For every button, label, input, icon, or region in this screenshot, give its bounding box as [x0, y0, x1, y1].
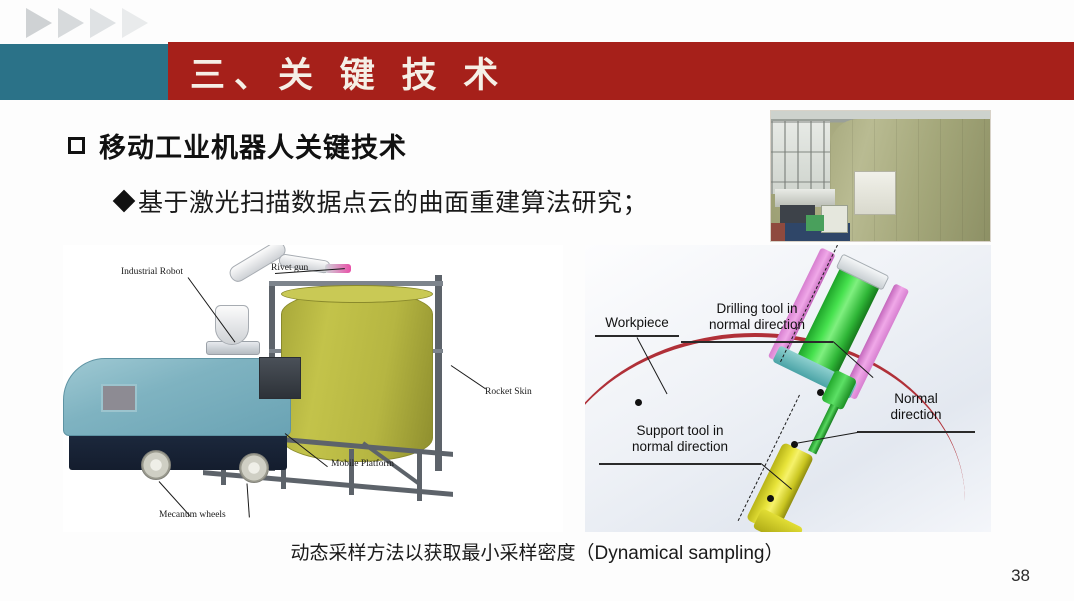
label-normal-direction: Normal direction	[857, 391, 975, 423]
rocket-tank-photo	[770, 110, 991, 242]
rocket-skin-top-ellipse	[281, 285, 433, 303]
truss-post-3	[349, 449, 354, 495]
label-rocket-skin: Rocket Skin	[485, 387, 532, 397]
label-support-tool: Support tool in normal direction	[599, 423, 761, 455]
mobile-platform-window	[101, 384, 137, 412]
label-mobile-platform: Mobile Platform	[331, 459, 394, 469]
bullet-level2-label: 基于激光扫描数据点云的曲面重建算法研究；	[138, 183, 648, 219]
photo-white-panel	[854, 171, 896, 215]
play-triangle-icon	[122, 8, 148, 38]
mecanum-wheel	[141, 450, 171, 480]
bullet-item-level1: 移动工业机器人关键技术	[68, 126, 407, 165]
play-triangle-icon	[26, 8, 52, 38]
photo-monitor	[821, 205, 847, 234]
hollow-square-bullet-icon	[68, 137, 85, 154]
play-triangle-icon	[58, 8, 84, 38]
leader-line-mecanum-2	[247, 483, 250, 517]
bullet-item-level2: 基于激光扫描数据点云的曲面重建算法研究；	[116, 183, 648, 219]
mecanum-wheel	[239, 453, 269, 483]
node-dot-workpiece	[635, 399, 642, 406]
fixture-upright-right	[435, 275, 442, 471]
leader-line-rocket-skin	[451, 365, 486, 389]
robot-controller-box	[259, 357, 301, 399]
page-title: 三、关 键 技 术	[190, 48, 690, 96]
decorative-arrow-strip	[26, 8, 148, 38]
label-underline-normal-direction	[857, 431, 975, 433]
node-dot-support-tool	[767, 495, 774, 502]
right-cad-diagram: Workpiece Drilling tool in normal direct…	[585, 245, 991, 532]
label-underline-support-tool	[599, 463, 761, 465]
node-dot-drilling-tool	[817, 389, 824, 396]
slide-caption: 动态采样方法以获取最小采样密度（Dynamical sampling）	[0, 538, 1074, 565]
label-rivet-gun: Rivet gun	[271, 263, 308, 273]
truss-post-4	[417, 453, 422, 501]
page-number: 38	[1011, 566, 1030, 586]
mobile-platform-shell	[63, 358, 291, 436]
label-drilling-tool: Drilling tool in normal direction	[677, 301, 837, 333]
bullet-level1-label: 移动工业机器人关键技术	[99, 126, 407, 165]
label-workpiece: Workpiece	[591, 315, 683, 331]
header-teal-block	[0, 44, 168, 100]
label-mecanum-wheels: Mecanum wheels	[159, 510, 226, 520]
play-triangle-icon	[90, 8, 116, 38]
filled-diamond-bullet-icon	[113, 190, 136, 213]
photo-bucket	[806, 215, 824, 231]
left-cad-diagram: Industrial Robot Rivet gun Rocket Skin M…	[63, 245, 563, 532]
photo-window-wall	[771, 121, 830, 194]
slide-canvas: 三、关 键 技 术 移动工业机器人关键技术 基于激光扫描数据点云的曲面重建算法研…	[0, 0, 1074, 601]
label-underline-drilling-tool	[681, 341, 833, 343]
label-industrial-robot: Industrial Robot	[121, 267, 183, 277]
rocket-skin-cylinder	[281, 290, 433, 462]
